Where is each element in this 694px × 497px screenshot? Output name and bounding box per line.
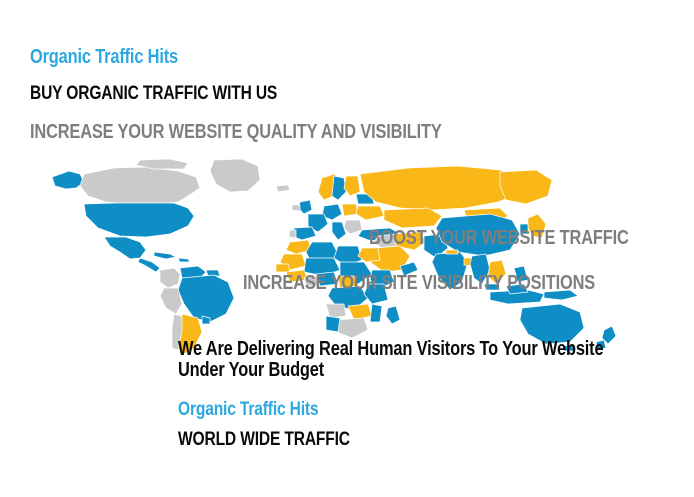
- heading-delivering-block: We Are Delivering Real Human Visitors To…: [178, 339, 694, 381]
- heading-buy-organic-traffic: BUY ORGANIC TRAFFIC WITH US: [30, 84, 277, 104]
- country-kazakhstan: [384, 208, 442, 228]
- country-france: [308, 214, 328, 232]
- country-peru: [160, 288, 182, 314]
- country-italy: [332, 222, 346, 240]
- country-cuba: [154, 252, 176, 259]
- country-angola: [326, 304, 346, 318]
- country-zambia-zimbabwe: [348, 304, 372, 320]
- country-germany: [322, 204, 342, 220]
- country-poland: [342, 204, 358, 216]
- country-finland: [344, 176, 360, 196]
- country-alaska: [52, 171, 84, 189]
- country-mongolia: [464, 208, 508, 224]
- heading-increase-site-visibility-positions: INCREASE YOUR SITE VISIBILITY POSITIONS: [243, 273, 595, 294]
- country-colombia: [160, 268, 180, 288]
- country-morocco: [286, 240, 312, 254]
- country-nepal: [446, 250, 458, 254]
- poster-canvas: Organic Traffic Hits BUY ORGANIC TRAFFIC…: [0, 0, 694, 497]
- heading-delivering-line1: We Are Delivering Real Human Visitors To…: [178, 338, 603, 360]
- country-libya: [334, 246, 362, 266]
- country-balkans: [344, 220, 362, 234]
- heading-world-wide-traffic: WORLD WIDE TRAFFIC: [178, 430, 350, 450]
- country-algeria: [306, 242, 338, 266]
- country-united-kingdom: [298, 200, 312, 214]
- country-ukraine: [356, 206, 384, 220]
- country-madagascar: [386, 306, 400, 324]
- country-ireland: [292, 205, 300, 211]
- country-south-africa: [334, 318, 368, 338]
- country-sweden: [332, 176, 346, 200]
- country-iceland: [276, 185, 290, 192]
- country-belarus-baltics: [356, 194, 374, 204]
- country-greenland: [210, 159, 260, 192]
- country-spain: [292, 227, 316, 240]
- country-canada: [80, 167, 200, 204]
- country-mauritania: [280, 254, 306, 270]
- heading-brand-bottom: Organic Traffic Hits: [178, 400, 318, 420]
- country-bangladesh: [464, 258, 472, 266]
- country-norway: [318, 174, 342, 200]
- country-united-states: [84, 203, 194, 237]
- country-russia: [360, 166, 528, 210]
- country-egypt: [358, 248, 380, 262]
- country-venezuela: [180, 266, 206, 278]
- country-saudi-arabia: [370, 246, 410, 272]
- country-central-america: [138, 258, 160, 272]
- country-mozambique: [370, 304, 382, 322]
- heading-delivering-line2: Under Your Budget: [178, 360, 694, 381]
- country-portugal: [289, 230, 296, 238]
- heading-brand-top: Organic Traffic Hits: [30, 47, 178, 68]
- country-guyanas: [206, 270, 220, 276]
- country-hispaniola: [178, 258, 190, 262]
- country-uruguay: [202, 316, 210, 324]
- heading-boost-website-traffic: BOOST YOUR WEBSITE TRAFFIC: [369, 228, 629, 249]
- heading-increase-website-quality: INCREASE YOUR WEBSITE QUALITY AND VISIBI…: [30, 122, 442, 143]
- world-map: [28, 158, 668, 358]
- country-brazil: [178, 275, 234, 322]
- country-canada-arctic: [136, 159, 188, 169]
- country-namibia: [326, 316, 340, 332]
- country-mexico: [104, 237, 146, 259]
- country-russia-east: [500, 170, 552, 204]
- country-senegal: [276, 264, 290, 272]
